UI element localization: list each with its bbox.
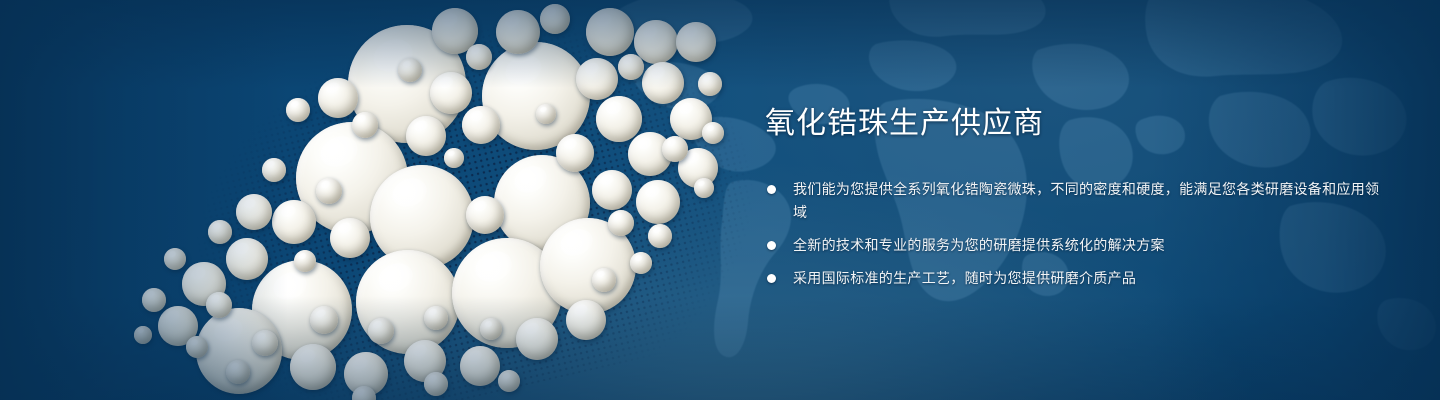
feature-list-item-text: 采用国际标准的生产工艺，随时为您提供研磨介质产品 (793, 267, 1385, 290)
banner-copy-block: 氧化锆珠生产供应商 我们能为您提供全系列氧化锆陶瓷微珠，不同的密度和硬度，能满足… (765, 104, 1385, 290)
feature-list-item-text: 我们能为您提供全系列氧化锆陶瓷微珠，不同的密度和硬度，能满足您各类研磨设备和应用… (793, 178, 1385, 224)
feature-list-item: 全新的技术和专业的服务为您的研磨提供系统化的解决方案 (765, 234, 1385, 257)
bullet-dot-icon (767, 241, 776, 250)
banner-headline: 氧化锆珠生产供应商 (765, 104, 1385, 144)
feature-list-item-text: 全新的技术和专业的服务为您的研磨提供系统化的解决方案 (793, 234, 1385, 257)
banner-feature-list: 我们能为您提供全系列氧化锆陶瓷微珠，不同的密度和硬度，能满足您各类研磨设备和应用… (765, 178, 1385, 290)
bullet-dot-icon (767, 185, 776, 194)
feature-list-item: 我们能为您提供全系列氧化锆陶瓷微珠，不同的密度和硬度，能满足您各类研磨设备和应用… (765, 178, 1385, 224)
hero-banner: 氧化锆珠生产供应商 我们能为您提供全系列氧化锆陶瓷微珠，不同的密度和硬度，能满足… (0, 0, 1440, 400)
bullet-dot-icon (767, 274, 776, 283)
feature-list-item: 采用国际标准的生产工艺，随时为您提供研磨介质产品 (765, 267, 1385, 290)
